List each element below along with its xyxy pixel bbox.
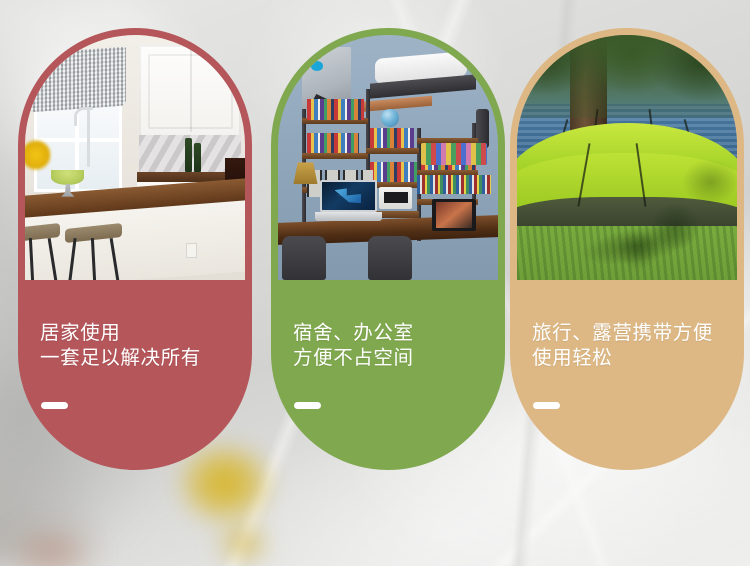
feature-card-travel-camping[interactable]: 旅行、露营携带方便 使用轻松 — [510, 28, 744, 470]
blue-home-office-photo — [278, 35, 498, 280]
feature-card-dorm-office[interactable]: 宿舍、办公室 方便不占空间 — [271, 28, 505, 470]
white-kitchen-island-photo — [25, 35, 245, 280]
feature-card-line-1: 居家使用 — [40, 321, 242, 346]
feature-cards-banner: 居家使用 一套足以解决所有 — [0, 0, 750, 566]
green-camping-tent-photo — [517, 35, 737, 280]
feature-card-line-2: 一套足以解决所有 — [40, 346, 242, 371]
feature-card-dash-marker — [533, 402, 560, 409]
feature-card-dash-marker — [294, 402, 321, 409]
feature-card-line-2: 使用轻松 — [532, 346, 734, 371]
feature-card-line-1: 旅行、露营携带方便 — [532, 321, 734, 346]
feature-card-line-2: 方便不占空间 — [293, 346, 495, 371]
feature-card-dash-marker — [41, 402, 68, 409]
blurred-foreground-decor — [0, 505, 130, 566]
feature-card-line-1: 宿舍、办公室 — [293, 321, 495, 346]
feature-card-home-use[interactable]: 居家使用 一套足以解决所有 — [18, 28, 252, 470]
